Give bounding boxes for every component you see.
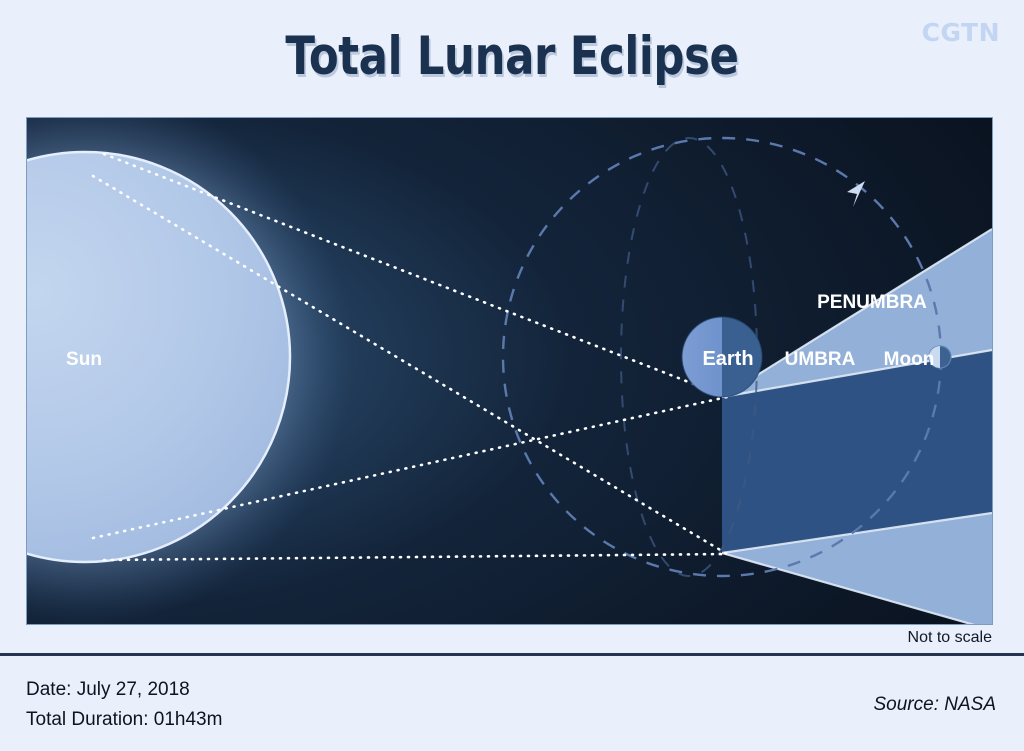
earth-label: Earth bbox=[702, 348, 753, 370]
footer: Date: July 27, 2018 Total Duration: 01h4… bbox=[0, 656, 1024, 751]
cgtn-logo: CGTN bbox=[922, 18, 1000, 47]
eclipse-diagram-svg: Sun Earth UMBRA Moon PENUMBRA bbox=[27, 118, 992, 624]
penumbra-label: PENUMBRA bbox=[817, 292, 927, 313]
eclipse-diagram-panel: Sun Earth UMBRA Moon PENUMBRA bbox=[27, 118, 992, 624]
page-title: Total Lunar Eclipse bbox=[92, 26, 932, 87]
eclipse-duration: Total Duration: 01h43m bbox=[26, 705, 222, 735]
not-to-scale-note: Not to scale bbox=[908, 629, 992, 647]
moon-label: Moon bbox=[884, 349, 935, 370]
source-credit: Source: NASA bbox=[874, 694, 997, 716]
footer-metadata: Date: July 27, 2018 Total Duration: 01h4… bbox=[26, 675, 222, 735]
umbra-label: UMBRA bbox=[785, 349, 856, 370]
eclipse-date: Date: July 27, 2018 bbox=[26, 675, 222, 705]
header: Total Lunar Eclipse CGTN bbox=[0, 0, 1024, 118]
sun-label: Sun bbox=[66, 349, 102, 370]
